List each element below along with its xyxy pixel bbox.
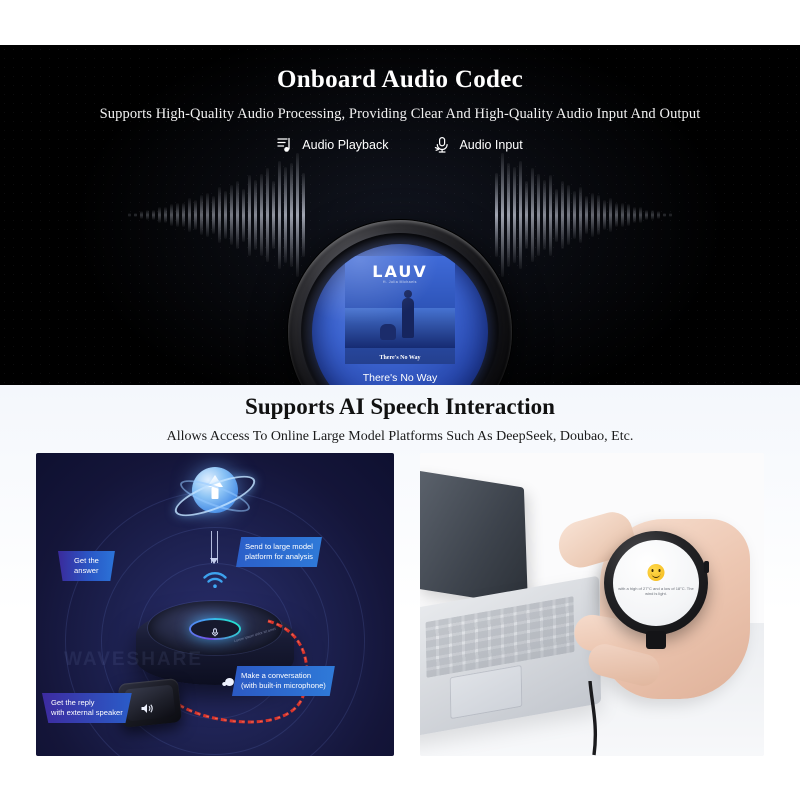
wifi-icon	[202, 571, 228, 594]
feature-label: Audio Playback	[302, 138, 388, 152]
microphone-glyph-icon	[211, 624, 219, 633]
album-logo-subtitle: ft. Julia Michaels	[345, 280, 455, 284]
artwork-figure-standing	[402, 298, 414, 338]
device-cable	[568, 681, 648, 756]
handheld-round-device: with a high of 27°C and a low of 18°C. T…	[604, 531, 708, 635]
device-usb-port	[646, 631, 666, 649]
ai-section-title: Supports AI Speech Interaction	[0, 394, 800, 420]
circular-speaker-player[interactable]: LAUV ft. Julia Michaels There's No Way T…	[288, 220, 512, 385]
page-title: Onboard Audio Codec	[0, 66, 800, 94]
feature-audio-input: Audio Input	[434, 136, 522, 154]
artwork-stage	[345, 308, 455, 348]
weather-text: with a high of 27°C and a low of 18°C. T…	[616, 586, 696, 597]
artwork-figure-sitting	[380, 324, 396, 340]
product-feature-page: Onboard Audio Codec Supports High-Qualit…	[0, 0, 800, 800]
callout-line-1: Make a conversation	[241, 671, 326, 681]
album-artwork: LAUV ft. Julia Michaels There's No Way	[345, 256, 455, 364]
page-subtitle: Supports High-Quality Audio Processing, …	[0, 106, 800, 123]
microphone-icon	[434, 136, 451, 154]
callout-get-the-answer: Get the answer	[58, 551, 115, 581]
callout-line-1: Send to large model	[245, 542, 313, 552]
callout-line-2: platform for analysis	[245, 552, 313, 562]
album-logo: LAUV	[345, 262, 455, 281]
human-hand: with a high of 27°C and a low of 18°C. T…	[544, 509, 754, 699]
now-playing-info: There's No Way (feat. julia Michaels)	[312, 372, 488, 385]
feature-audio-playback: Audio Playback	[277, 136, 388, 154]
waveform-right	[495, 140, 672, 290]
hand-holding-device-photo: with a high of 27°C and a low of 18°C. T…	[420, 453, 764, 756]
feature-badge-row: Audio Playback Audio Input	[0, 136, 800, 154]
callout-line-2: answer	[74, 566, 99, 576]
album-art-title: There's No Way	[345, 355, 455, 361]
ai-speech-section: Supports AI Speech Interaction Allows Ac…	[0, 385, 800, 800]
ai-panels: Lorem ipsum dolor sit amet WAVESHARE Get…	[36, 453, 770, 756]
callout-line-1: Get the reply	[51, 698, 123, 708]
callout-line-2: (with built-in microphone)	[241, 681, 326, 691]
smiley-face-icon	[648, 564, 665, 581]
speaker-volume-icon	[140, 702, 153, 720]
speech-bubble-icon	[222, 676, 235, 694]
callout-send-to-model: Send to large model platform for analysi…	[236, 537, 322, 567]
callout-get-the-reply: Get the reply with external speaker	[42, 693, 132, 723]
device-side-button[interactable]	[704, 561, 709, 573]
waveform-left	[128, 140, 305, 290]
callout-make-conversation: Make a conversation (with built-in micro…	[232, 666, 335, 696]
data-flow-arrows	[210, 531, 220, 563]
feature-label: Audio Input	[459, 138, 522, 152]
ai-workflow-diagram: Lorem ipsum dolor sit amet WAVESHARE Get…	[36, 453, 394, 756]
song-title: There's No Way	[312, 372, 488, 385]
audio-playback-icon	[277, 136, 294, 154]
callout-line-1: Get the	[74, 556, 99, 566]
laptop-screen	[420, 470, 528, 607]
ai-section-subtitle: Allows Access To Online Large Model Plat…	[0, 429, 800, 445]
diagram-watermark: WAVESHARE	[64, 649, 203, 671]
device-display: with a high of 27°C and a low of 18°C. T…	[613, 540, 699, 626]
audio-codec-section: Onboard Audio Codec Supports High-Qualit…	[0, 45, 800, 385]
cloud-upload-planet-icon	[172, 463, 258, 529]
callout-line-2: with external speaker	[51, 708, 123, 718]
